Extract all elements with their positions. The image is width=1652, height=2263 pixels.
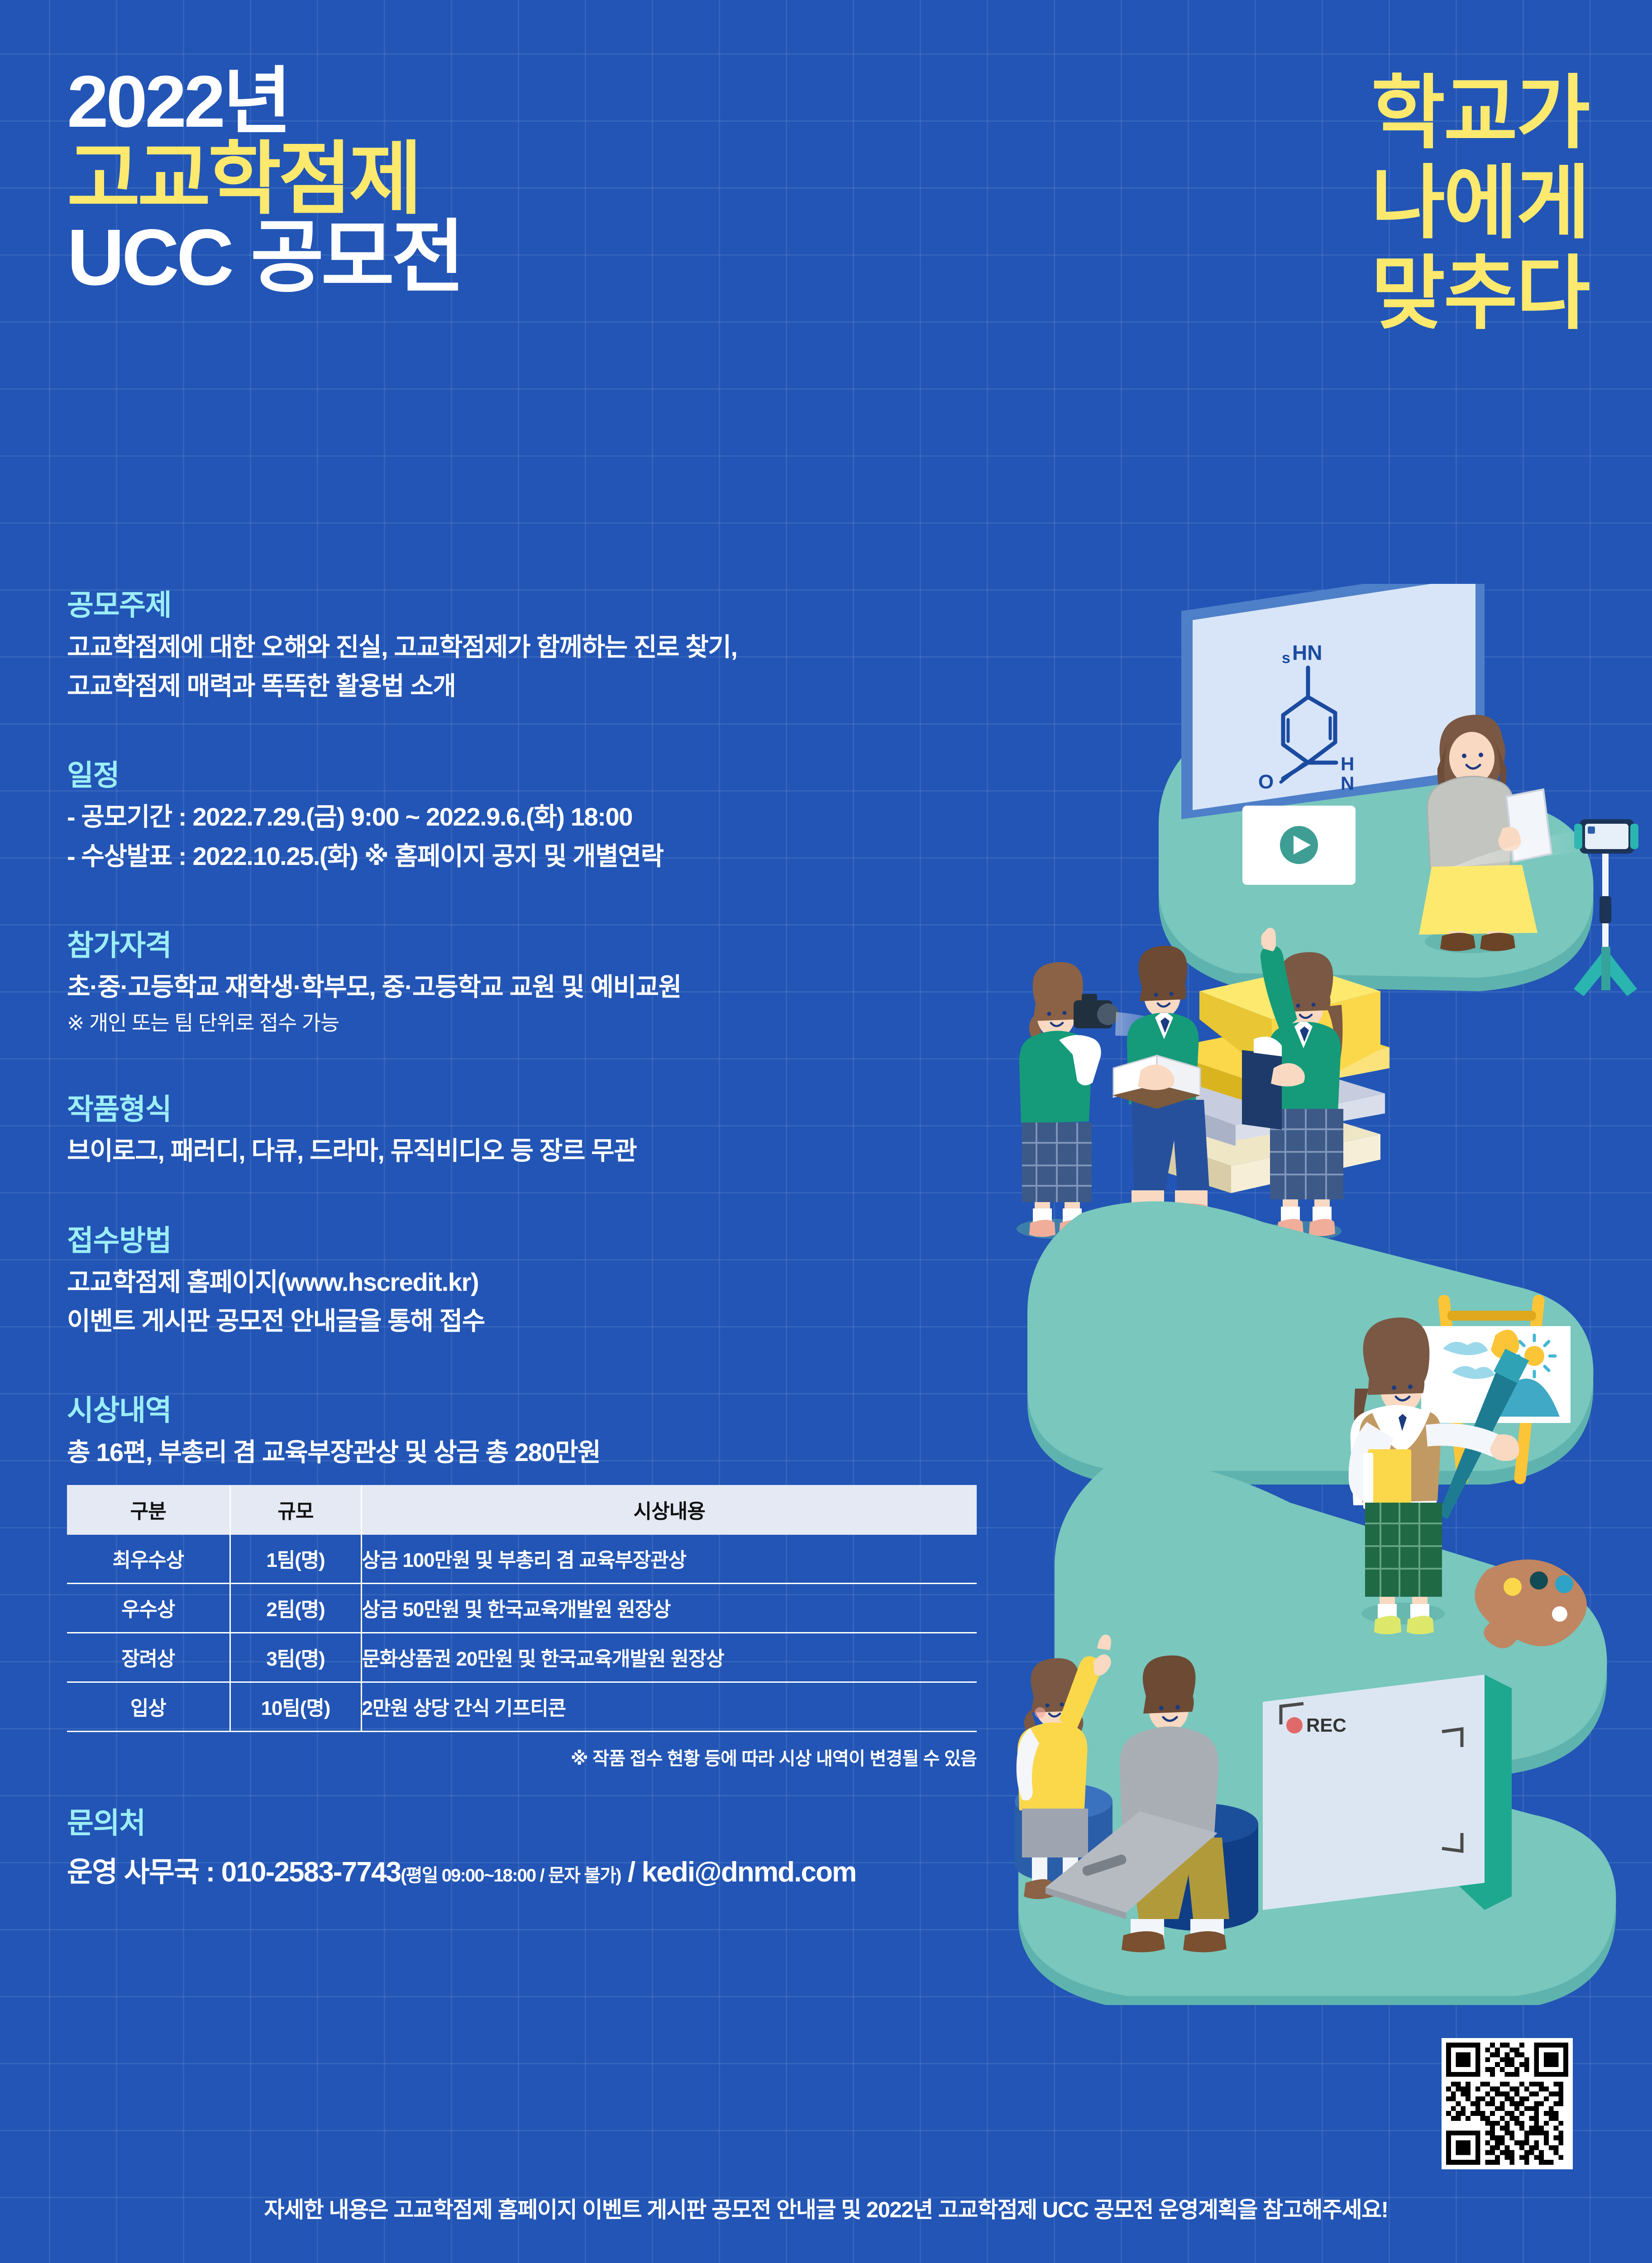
section-topic-line-2: 고교학점제 매력과 똑똑한 활용법 소개 — [67, 669, 1085, 703]
cell-category: 입상 — [67, 1682, 230, 1732]
svg-text:O: O — [1258, 771, 1274, 793]
section-submission-line-1[interactable]: 고교학점제 홈페이지(www.hscredit.kr) — [67, 1265, 1085, 1299]
table-col-header-scale: 규모 — [230, 1485, 361, 1535]
svg-text:HN: HN — [1292, 641, 1322, 664]
bottom-note-suffix: 을 참고해주세요! — [1237, 2198, 1388, 2222]
svg-text:s: s — [1282, 649, 1290, 667]
section-format: 작품형식 브이로그, 패러디, 다큐, 드라마, 뮤직비디오 등 장르 무관 — [67, 1093, 1085, 1169]
bottom-note-prefix: 자세한 내용은 — [264, 2198, 393, 2222]
cell-category: 우수상 — [67, 1584, 230, 1633]
table-row: 장려상 3팀(명) 문화상품권 20만원 및 한국교육개발원 원장상 — [67, 1633, 977, 1682]
title-block-left: 2022년 고교학점제 UCC 공모전 — [67, 68, 462, 295]
contact-email[interactable]: kedi@dnmd.com — [642, 1857, 856, 1888]
bottom-note-bold-2: 2022년 고교학점제 UCC 공모전 운영계획 — [866, 2198, 1237, 2222]
table-col-header-category: 구분 — [67, 1485, 230, 1535]
title-year: 2022년 — [67, 68, 470, 136]
section-eligibility: 참가자격 초·중·고등학교 재학생·학부모, 중·고등학교 교원 및 예비교원 … — [67, 929, 1085, 1037]
poster-root: s HN O H N — [0, 0, 1652, 2263]
table-row: 최우수상 1팀(명) 상금 100만원 및 부총리 겸 교육부장관상 — [67, 1535, 977, 1584]
rec-monitor: REC — [1263, 1675, 1512, 1910]
slogan-line-2: 나에게 — [1371, 158, 1589, 248]
spacer — [67, 708, 1085, 759]
slogan-line-3: 맞추다 — [1371, 248, 1589, 339]
svg-text:N: N — [1341, 773, 1354, 794]
bottom-note-bold-1: 고교학점제 홈페이지 이벤트 게시판 공모전 안내글 — [393, 2198, 836, 2222]
cell-scale: 1팀(명) — [230, 1535, 361, 1584]
table-header-row: 구분 규모 시상내용 — [67, 1485, 977, 1535]
section-format-heading: 작품형식 — [67, 1093, 1085, 1127]
qr-code[interactable] — [1442, 2038, 1573, 2169]
table-row: 입상 10팀(명) 2만원 상당 간식 기프티콘 — [67, 1682, 977, 1732]
section-contact-heading: 문의처 — [67, 1806, 1085, 1841]
cell-scale: 3팀(명) — [230, 1633, 361, 1682]
slogan-block: 학교가 나에게 맞추다 — [1371, 68, 1589, 339]
bottom-note-mid: 및 — [836, 2198, 866, 2222]
bottom-reference-note: 자세한 내용은 고교학점제 홈페이지 이벤트 게시판 공모전 안내글 및 202… — [0, 2192, 1652, 2224]
section-schedule-heading: 일정 — [67, 759, 1085, 793]
section-contact: 문의처 운영 사무국 : 010-2583-7743(평일 09:00~18:0… — [67, 1806, 1085, 1890]
cell-category: 장려상 — [67, 1633, 230, 1682]
section-format-line: 브이로그, 패러디, 다큐, 드라마, 뮤직비디오 등 장르 무관 — [67, 1134, 1085, 1168]
poster-content: 공모주제 고교학점제에 대한 오해와 진실, 고교학점제가 함께하는 진로 찾기… — [67, 588, 1085, 1890]
section-awards: 시상내역 총 16편, 부총리 겸 교육부장관상 및 상금 총 280만원 구분… — [67, 1394, 1085, 1770]
contact-hours: (평일 09:00~18:00 / 문자 불가) — [401, 1866, 621, 1886]
section-awards-heading: 시상내역 — [67, 1394, 1085, 1428]
easel-painting — [1421, 1294, 1571, 1519]
title-main: 고교학점제 — [67, 143, 462, 217]
platform-middle — [1027, 1201, 1607, 1774]
contact-phone[interactable]: 운영 사무국 : 010-2583-7743 — [67, 1857, 401, 1888]
awards-table: 구분 규모 시상내용 최우수상 1팀(명) 상금 100만원 및 부총리 겸 교… — [67, 1485, 977, 1732]
spacer — [67, 1042, 1085, 1093]
section-submission-line-2: 이벤트 게시판 공모전 안내글을 통해 접수 — [67, 1304, 1085, 1338]
spacer — [67, 1173, 1085, 1224]
section-topic: 공모주제 고교학점제에 대한 오해와 진실, 고교학점제가 함께하는 진로 찾기… — [67, 588, 1085, 703]
cell-detail: 문화상품권 20만원 및 한국교육개발원 원장상 — [361, 1633, 977, 1682]
section-eligibility-line: 초·중·고등학교 재학생·학부모, 중·고등학교 교원 및 예비교원 — [67, 970, 1085, 1004]
section-topic-line-1: 고교학점제에 대한 오해와 진실, 고교학점제가 함께하는 진로 찾기, — [67, 630, 1085, 664]
poster-header: 2022년 고교학점제 UCC 공모전 학교가 나에게 맞추다 — [0, 0, 1652, 534]
cell-detail: 상금 100만원 및 부총리 겸 교육부장관상 — [361, 1535, 977, 1584]
cell-scale: 10팀(명) — [230, 1682, 361, 1732]
section-submission: 접수방법 고교학점제 홈페이지(www.hscredit.kr) 이벤트 게시판… — [67, 1224, 1085, 1339]
section-topic-heading: 공모주제 — [67, 588, 1085, 623]
section-awards-summary: 총 16편, 부총리 겸 교육부장관상 및 상금 총 280만원 — [67, 1435, 1085, 1470]
cell-detail: 상금 50만원 및 한국교육개발원 원장상 — [361, 1584, 977, 1633]
cell-scale: 2팀(명) — [230, 1584, 361, 1633]
contact-details: 운영 사무국 : 010-2583-7743(평일 09:00~18:00 / … — [67, 1849, 1085, 1890]
paint-palette — [1475, 1560, 1587, 1648]
slogan-line-1: 학교가 — [1371, 68, 1589, 158]
spacer — [67, 1343, 1085, 1394]
table-col-header-detail: 시상내용 — [361, 1485, 977, 1535]
rec-label: REC — [1306, 1714, 1346, 1736]
section-eligibility-note: ※ 개인 또는 팀 단위로 접수 가능 — [67, 1009, 1085, 1037]
student-reading — [1112, 946, 1212, 1224]
video-play-card — [1242, 806, 1356, 885]
section-schedule-line-2: - 수상발표 : 2022.10.25.(화) ※ 홈페이지 공지 및 개별연락 — [67, 839, 1085, 874]
contact-separator: / — [621, 1857, 642, 1888]
section-submission-heading: 접수방법 — [67, 1224, 1085, 1258]
svg-text:H: H — [1341, 753, 1354, 774]
table-row: 우수상 2팀(명) 상금 50만원 및 한국교육개발원 원장상 — [67, 1584, 977, 1633]
cell-detail: 2만원 상당 간식 기프티콘 — [361, 1682, 977, 1732]
section-schedule: 일정 - 공모기간 : 2022.7.29.(금) 9:00 ~ 2022.9.… — [67, 759, 1085, 874]
awards-table-wrapper: 구분 규모 시상내용 최우수상 1팀(명) 상금 100만원 및 부총리 겸 교… — [67, 1485, 977, 1732]
title-sub: UCC 공모전 — [67, 221, 462, 295]
cell-category: 최우수상 — [67, 1535, 230, 1584]
awards-table-note: ※ 작품 접수 현황 등에 따라 시상 내역이 변경될 수 있음 — [67, 1744, 977, 1770]
section-eligibility-heading: 참가자격 — [67, 929, 1085, 963]
section-schedule-line-1: - 공모기간 : 2022.7.29.(금) 9:00 ~ 2022.9.6.(… — [67, 800, 1085, 834]
spacer — [67, 878, 1085, 929]
